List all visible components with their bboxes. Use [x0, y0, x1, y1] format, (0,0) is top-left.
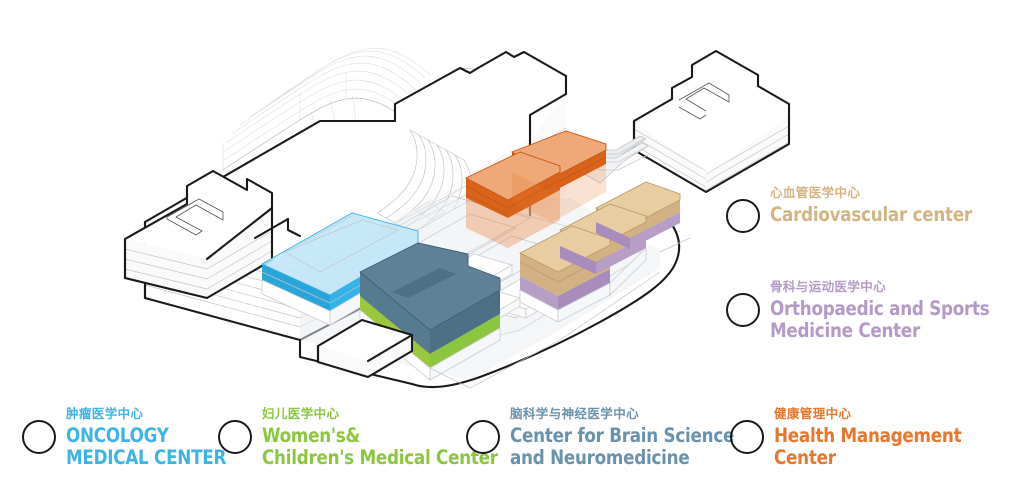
callout-label-en-2: MEDICAL CENTER: [66, 448, 226, 468]
circle-marker-icon: [726, 199, 760, 233]
circle-marker-icon: [726, 293, 760, 327]
circle-marker-icon: [218, 420, 252, 454]
callout-label-en-2: and Neuromedicine: [510, 448, 734, 468]
callout-label-en-2: Center: [774, 448, 961, 468]
east-annex-block: [634, 51, 789, 192]
callout-orthopaedic[interactable]: 骨科与运动医学中心 Orthopaedic and Sports Medicin…: [726, 281, 1012, 341]
callout-label-cn: 心血管医学中心: [770, 187, 1005, 200]
callout-label-cn: 骨科与运动医学中心: [770, 281, 1012, 294]
callout-label-en-2: Children's Medical Center: [262, 448, 498, 468]
callout-label-en-1: Health Management: [774, 426, 961, 446]
callout-text: 健康管理中心 Health Management Center: [774, 408, 992, 468]
circle-marker-icon: [466, 420, 500, 454]
circle-marker-icon: [22, 420, 56, 454]
callout-health-management[interactable]: 健康管理中心 Health Management Center: [730, 408, 992, 468]
callout-text: 心血管医学中心 Cardiovascular center: [770, 187, 1005, 224]
callout-text: 骨科与运动医学中心 Orthopaedic and Sports Medicin…: [770, 281, 1012, 341]
callout-label-en-2: Medicine Center: [770, 321, 990, 341]
callout-label-en-1: Women's&: [262, 426, 498, 446]
circle-marker-icon: [730, 420, 764, 454]
callout-label-en-1: Orthopaedic and Sports: [770, 299, 990, 319]
diagram-canvas: .ol-d { stroke:#1a1a1a; stroke-width:2.1…: [0, 0, 1012, 495]
callout-brain-science[interactable]: 脑科学与神经医学中心 Center for Brain Science and …: [466, 408, 771, 468]
callout-label-en-1: ONCOLOGY: [66, 426, 226, 446]
callout-label-en-1: Cardiovascular center: [770, 205, 972, 225]
callout-label-en-1: Center for Brain Science: [510, 426, 734, 446]
callout-label-cn: 健康管理中心: [774, 408, 992, 421]
callout-cardiovascular[interactable]: 心血管医学中心 Cardiovascular center: [726, 187, 1005, 233]
